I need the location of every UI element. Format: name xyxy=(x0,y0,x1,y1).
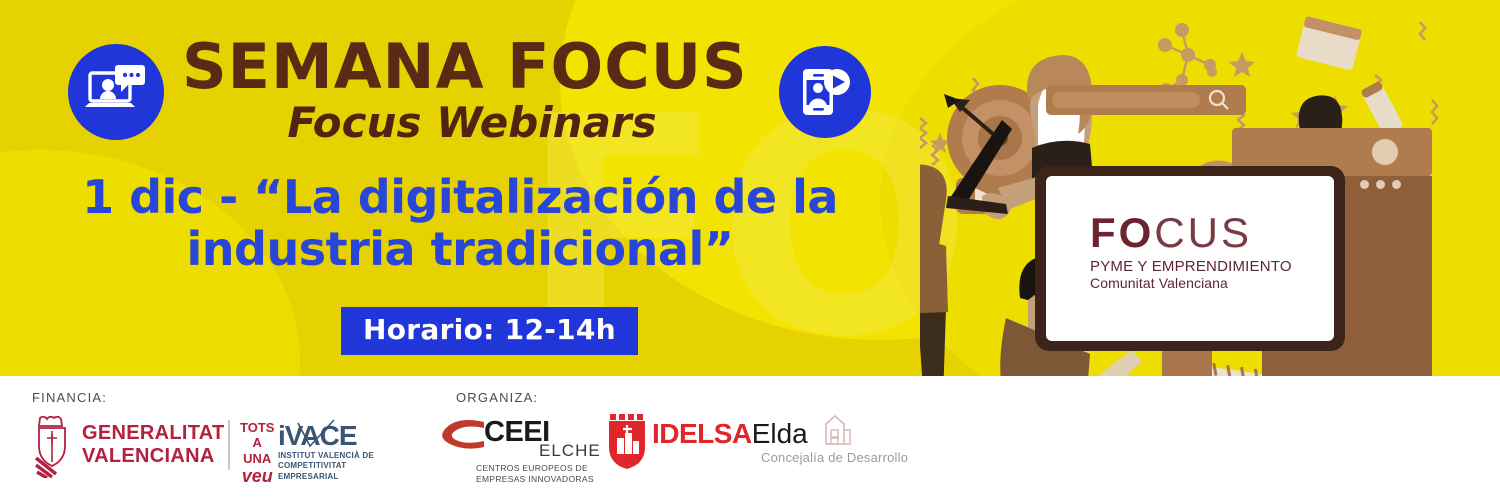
logo-generalitat-valenciana[interactable]: GENERALITAT VALENCIANA TOTS A UNA veu xyxy=(30,416,270,478)
cabinet-dot xyxy=(1376,180,1385,189)
focus-logo-subtitle-2: Comunitat Valenciana xyxy=(1090,275,1340,291)
page-title: SEMANA FOCUS xyxy=(182,36,762,98)
schedule-badge: Horario: 12-14h xyxy=(341,307,638,355)
ivace-check-icon xyxy=(296,419,336,449)
logo-ceei-elche[interactable]: CEEI ELCHE CENTROS EUROPEOS DE EMPRESAS … xyxy=(444,416,594,478)
search-icon[interactable] xyxy=(1206,88,1232,112)
idelsa-subtitle: Concejalía de Desarrollo xyxy=(761,450,908,465)
mobile-video-icon xyxy=(779,46,871,138)
tots-line3: veu xyxy=(240,466,274,487)
idelsa-word-black: Elda xyxy=(752,418,808,449)
tots-a-una-veu-tag: TOTS A UNA veu xyxy=(240,420,274,487)
ceei-sub-line2: EMPRESAS INNOVADORAS xyxy=(476,474,594,485)
ceei-swoosh-icon xyxy=(440,418,488,450)
focus-logo-light: CUS xyxy=(1154,209,1252,256)
focus-logo-bold: FO xyxy=(1090,209,1154,256)
logo-idelsa-elda[interactable]: IDELSAElda Concejalía de Desarrollo xyxy=(606,412,916,474)
webinar-laptop-icon xyxy=(68,44,164,140)
organiza-label: ORGANIZA: xyxy=(456,390,538,405)
folder-icon xyxy=(1296,16,1362,71)
generalitat-shield-icon xyxy=(30,416,76,478)
ceei-subtitle: CENTROS EUROPEOS DE EMPRESAS INNOVADORAS xyxy=(476,463,594,486)
cabinet-dot xyxy=(1360,180,1369,189)
ivace-sub-line1: INSTITUT VALENCIÀ DE xyxy=(278,451,396,461)
tots-line1: TOTS xyxy=(240,420,274,435)
event-headline: 1 dic - “La digitalización de la industr… xyxy=(60,172,860,275)
ceei-city: ELCHE xyxy=(539,441,601,461)
focus-program-logo: FOCUS PYME Y EMPRENDIMIENTO Comunitat Va… xyxy=(1090,212,1340,291)
ceei-sub-line1: CENTROS EUROPEOS DE xyxy=(476,463,594,474)
logo-ivace[interactable]: iVACE INSTITUT VALENCIÀ DE COMPETITIVITA… xyxy=(278,420,396,478)
idelsa-word-red: IDELSA xyxy=(652,418,752,449)
ivace-sub-line2: COMPETITIVITAT EMPRESARIAL xyxy=(278,461,396,482)
generalitat-divider xyxy=(228,420,230,470)
generalitat-wordmark: GENERALITAT VALENCIANA xyxy=(82,422,225,468)
focus-logo-subtitle-1: PYME Y EMPRENDIMIENTO xyxy=(1090,258,1340,275)
tots-line2: A UNA xyxy=(240,435,274,466)
cabinet-knob xyxy=(1372,139,1398,165)
financia-label: FINANCIA: xyxy=(32,390,107,405)
cabinet-dot xyxy=(1392,180,1401,189)
ivace-subtitle: INSTITUT VALENCIÀ DE COMPETITIVITAT EMPR… xyxy=(278,451,396,482)
event-headline-line2: industria tradicional” xyxy=(60,224,860,276)
idelsa-wordmark: IDELSAElda xyxy=(652,418,808,450)
page-subtitle: Focus Webinars xyxy=(182,101,762,145)
focus-webinar-banner: FO SEMANA FOCUS Focus Webinars xyxy=(0,0,1500,500)
search-input[interactable] xyxy=(1052,92,1200,108)
elda-crest-icon xyxy=(606,414,650,470)
generalitat-line1: GENERALITAT xyxy=(82,422,225,445)
event-headline-line1: 1 dic - “La digitalización de la xyxy=(60,172,860,224)
generalitat-line2: VALENCIANA xyxy=(82,445,225,468)
building-icon xyxy=(818,412,852,448)
